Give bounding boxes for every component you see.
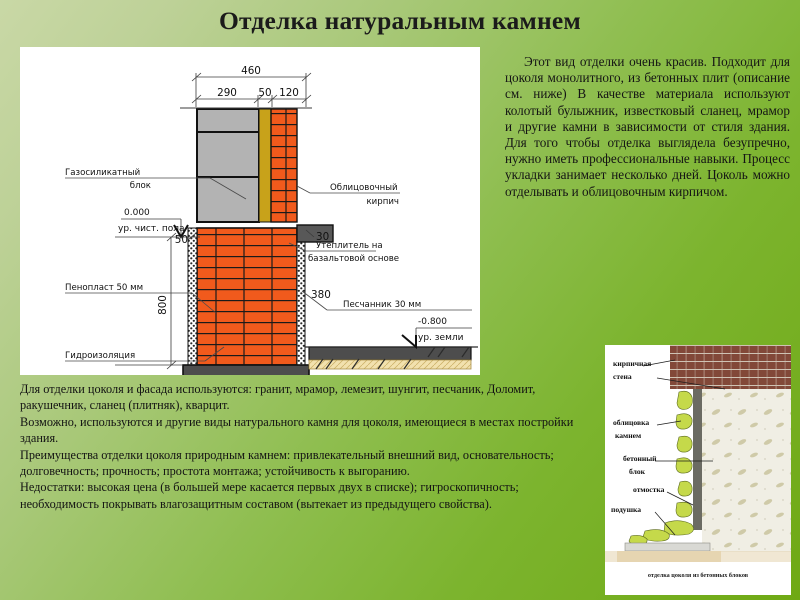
dimension-380: 380 xyxy=(311,289,331,301)
ground-level-note: ур. земли xyxy=(418,333,464,343)
photo-label-brick-wall-line1: кирпичная xyxy=(613,359,651,368)
dimension-290: 290 xyxy=(217,87,237,99)
body-paragraph-4: Недостатки: высокая цена (в большей мере… xyxy=(20,479,600,512)
photo-card: отделка цоколя из бетонных блоков кирпич… xyxy=(605,345,791,595)
label-sandstone: Песчанник 30 мм xyxy=(343,300,421,310)
photo-blind-area xyxy=(625,543,710,551)
photo-label-stone-facing-line2: камнем xyxy=(615,431,641,440)
label-facing-brick-line1: Облицовочный xyxy=(330,183,398,193)
blind-area-slab xyxy=(309,347,471,360)
dimension-50-top: 50 xyxy=(258,87,271,99)
label-waterproofing: Гидроизоляция xyxy=(65,351,135,361)
photo-label-stone-facing-line1: облицовка xyxy=(613,418,649,427)
dimension-30: 30 xyxy=(316,231,329,243)
technical-drawing: 460 290 50 120 xyxy=(20,47,480,375)
label-foam-plastic: Пенопласт 50 мм xyxy=(65,283,143,293)
insulation-strip xyxy=(259,109,271,222)
photo-label-concrete-block-line2: блок xyxy=(629,467,646,476)
dimension-50-wall: 50 xyxy=(175,234,188,246)
label-basalt-insulation-line2: базальтовой основе xyxy=(308,254,399,264)
floor-level-value: 0.000 xyxy=(124,208,150,218)
gas-silicate-wall xyxy=(197,109,259,222)
ground-level-value: -0.800 xyxy=(418,317,447,327)
body-paragraph-2: Возможно, используются и другие виды нат… xyxy=(20,414,600,447)
photo-label-concrete-block-line1: бетонный xyxy=(623,454,657,463)
photo-label-brick-wall-line2: стена xyxy=(613,372,632,381)
photo-ground xyxy=(605,551,791,562)
dimension-800: 800 xyxy=(157,295,169,315)
body-paragraph-3: Преимущества отделки цоколя природным ка… xyxy=(20,447,600,480)
body-paragraph-1: Для отделки цоколя и фасада используются… xyxy=(20,381,600,414)
facing-brick-column xyxy=(271,109,297,222)
label-facing-brick-line2: кирпич xyxy=(366,197,399,207)
intro-paragraph: Этот вид отделки очень красив. Подходит … xyxy=(505,54,790,200)
photo-label-cushion: подушка xyxy=(611,505,641,514)
photo-caption: отделка цоколя из бетонных блоков xyxy=(648,572,749,579)
dimension-120: 120 xyxy=(279,87,299,99)
plinth-brickwork xyxy=(197,228,297,365)
sand-cushion xyxy=(309,360,471,369)
dimension-total-width: 460 xyxy=(241,65,261,77)
slide-root: Отделка натуральным камнем Этот вид отде… xyxy=(0,0,800,600)
photo-label-blind-area: отмостка xyxy=(633,485,665,494)
label-gas-silicate-block-line2: блок xyxy=(130,181,151,191)
photo-plinth-face xyxy=(693,389,702,530)
label-gas-silicate-block-line1: Газосиликатный xyxy=(65,168,140,178)
foundation-block xyxy=(183,365,309,375)
technical-drawing-panel: 460 290 50 120 xyxy=(20,47,480,375)
photo-concrete-block xyxy=(702,389,791,552)
plinth-photo-diagram: отделка цоколя из бетонных блоков кирпич… xyxy=(605,345,791,595)
body-text-block: Для отделки цоколя и фасада используются… xyxy=(20,381,600,512)
page-title: Отделка натуральным камнем xyxy=(0,6,800,36)
